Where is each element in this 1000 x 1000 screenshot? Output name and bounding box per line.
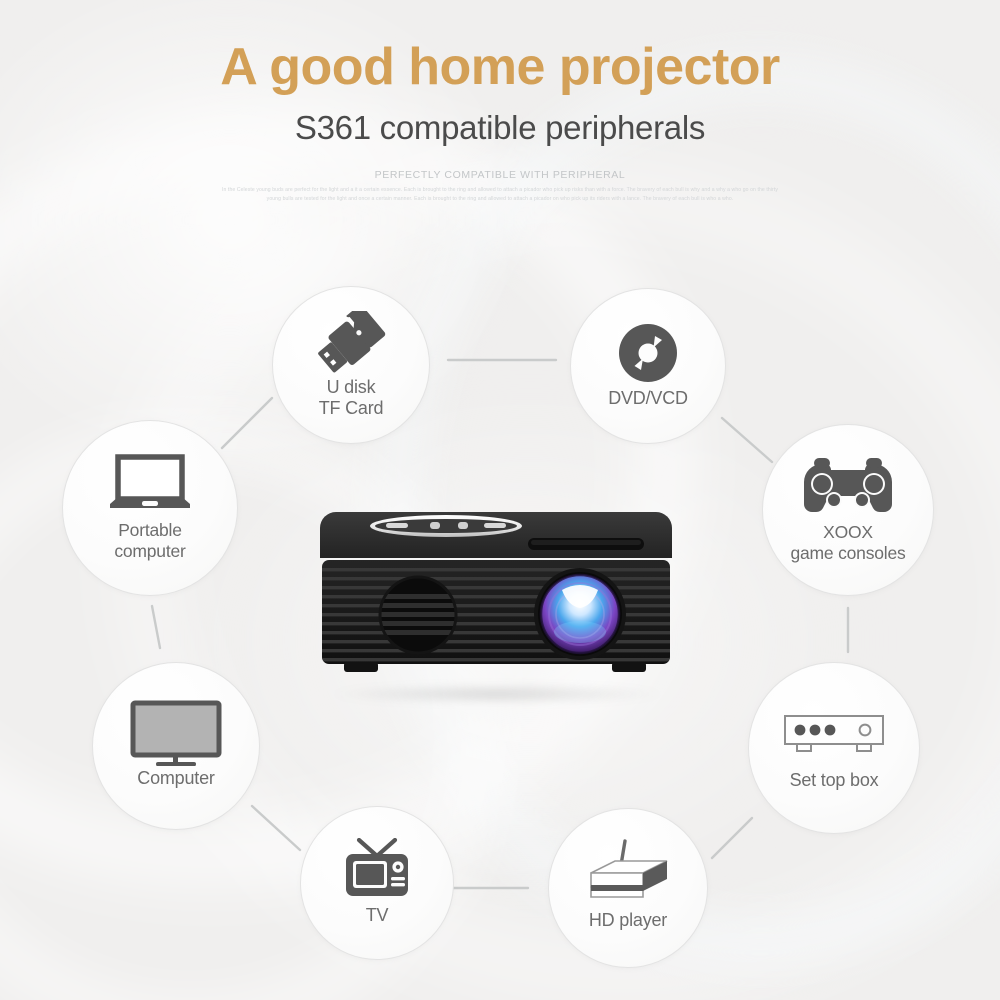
page-title: A good home projector — [0, 40, 1000, 95]
peripheral-label-computer: Computer — [137, 768, 214, 789]
peripheral-label-udisk: U disk TF Card — [319, 377, 384, 419]
peripheral-node-udisk[interactable]: U disk TF Card — [272, 286, 430, 444]
peripheral-label-dvd: DVD/VCD — [608, 388, 688, 409]
peripheral-node-hd-player[interactable]: HD player — [548, 808, 708, 968]
peripheral-label-game-consoles: XOOX game consoles — [790, 522, 905, 563]
set-top-box-icon — [783, 704, 885, 766]
peripheral-node-dvd[interactable]: DVD/VCD — [570, 288, 726, 444]
laptop-icon — [104, 454, 196, 516]
peripheral-label-tv: TV — [366, 905, 389, 926]
infographic-page: A good home projector S361 compatible pe… — [0, 0, 1000, 1000]
product-shadow — [332, 684, 662, 704]
page-subtitle: S361 compatible peripherals — [0, 109, 1000, 147]
gamepad-icon — [800, 456, 896, 518]
desktop-monitor-icon — [130, 702, 222, 764]
peripheral-node-set-top-box[interactable]: Set top box — [748, 662, 920, 834]
peripheral-label-set-top-box: Set top box — [790, 770, 879, 791]
peripheral-label-hd-player: HD player — [589, 910, 667, 931]
filler-paragraph: In the Celeste young buds are perfect fo… — [220, 186, 780, 205]
usb-drive-tf-card-icon — [314, 311, 388, 373]
peripheral-node-portable-computer[interactable]: Portable computer — [62, 420, 238, 596]
projector-product-image — [318, 502, 674, 698]
section-kicker: PERFECTLY COMPATIBLE WITH PERIPHERAL — [0, 169, 1000, 181]
peripheral-label-portable-computer: Portable computer — [114, 520, 185, 561]
retro-tv-icon — [341, 839, 413, 901]
header-block: A good home projector S361 compatible pe… — [0, 0, 1000, 204]
projector-illustration — [318, 502, 674, 698]
peripheral-node-tv[interactable]: TV — [300, 806, 454, 960]
peripheral-node-computer[interactable]: Computer — [92, 662, 260, 830]
disc-icon — [617, 322, 679, 384]
peripheral-node-game-consoles[interactable]: XOOX game consoles — [762, 424, 934, 596]
hd-player-box-icon — [581, 844, 675, 906]
